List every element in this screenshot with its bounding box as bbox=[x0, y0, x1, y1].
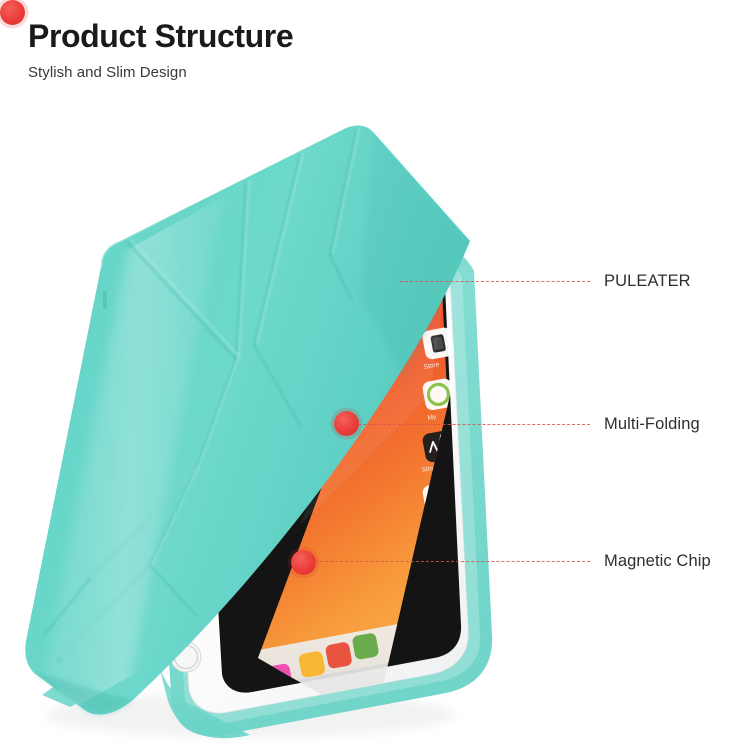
callout-label-multi-folding: Multi-Folding bbox=[604, 415, 700, 434]
cover-side-nub bbox=[103, 291, 107, 309]
page-title: Product Structure bbox=[28, 18, 528, 55]
callout-puleater: PULEATER bbox=[400, 271, 691, 291]
callout-leader-line-magnetic-chip bbox=[305, 561, 590, 562]
callout-label-magnetic-chip: Magnetic Chip bbox=[604, 552, 711, 571]
infographic-page: Product Structure Stylish and Slim Desig… bbox=[0, 0, 750, 750]
callout-dot-puleater[interactable] bbox=[0, 0, 25, 25]
callout-dot-magnetic-chip[interactable] bbox=[291, 550, 316, 575]
page-subtitle: Stylish and Slim Design bbox=[28, 64, 528, 81]
callout-dot-multi-folding[interactable] bbox=[334, 411, 359, 436]
callout-leader-line-puleater bbox=[400, 281, 590, 282]
header: Product Structure Stylish and Slim Desig… bbox=[28, 18, 528, 81]
callout-magnetic-chip: Magnetic Chip bbox=[305, 551, 711, 571]
callout-leader-line-multi-folding bbox=[348, 424, 590, 425]
callout-multi-folding: Multi-Folding bbox=[348, 414, 700, 434]
callout-label-puleater: PULEATER bbox=[604, 272, 691, 291]
